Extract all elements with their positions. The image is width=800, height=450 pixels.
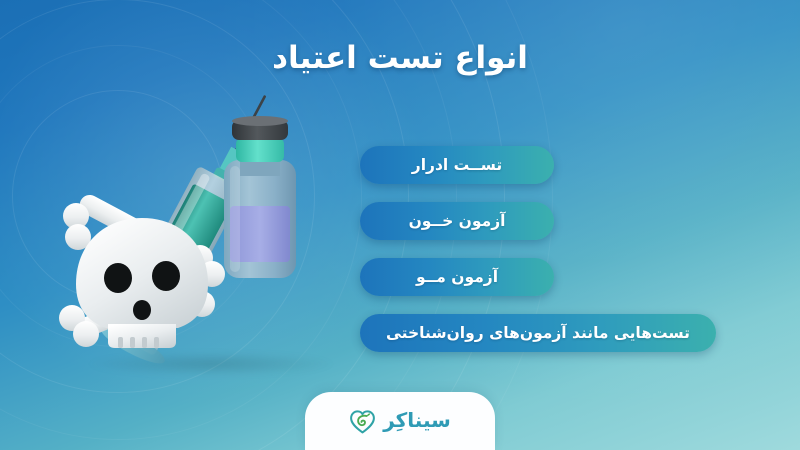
- infographic-canvas: انواع تست اعتیاد: [0, 0, 800, 450]
- pill-hair-test[interactable]: آزمون مــو: [360, 258, 554, 296]
- pill-blood-test[interactable]: آزمون خــون: [360, 202, 554, 240]
- pill-urine-test[interactable]: تســت ادرار: [360, 146, 554, 184]
- heart-leaf-icon: [349, 408, 376, 435]
- brand-logo[interactable]: سیناکِر: [305, 392, 495, 450]
- drug-test-illustration: [48, 72, 348, 372]
- brand-name: سیناکِر: [383, 410, 451, 433]
- test-type-list: تســت ادرار آزمون خــون آزمون مــو تست‌ه…: [360, 146, 716, 352]
- medicine-vial-icon: [224, 116, 296, 278]
- pill-psychological-test[interactable]: تست‌هایی مانند آزمون‌های روان‌شناختی: [360, 314, 716, 352]
- page-title: انواع تست اعتیاد: [0, 40, 800, 76]
